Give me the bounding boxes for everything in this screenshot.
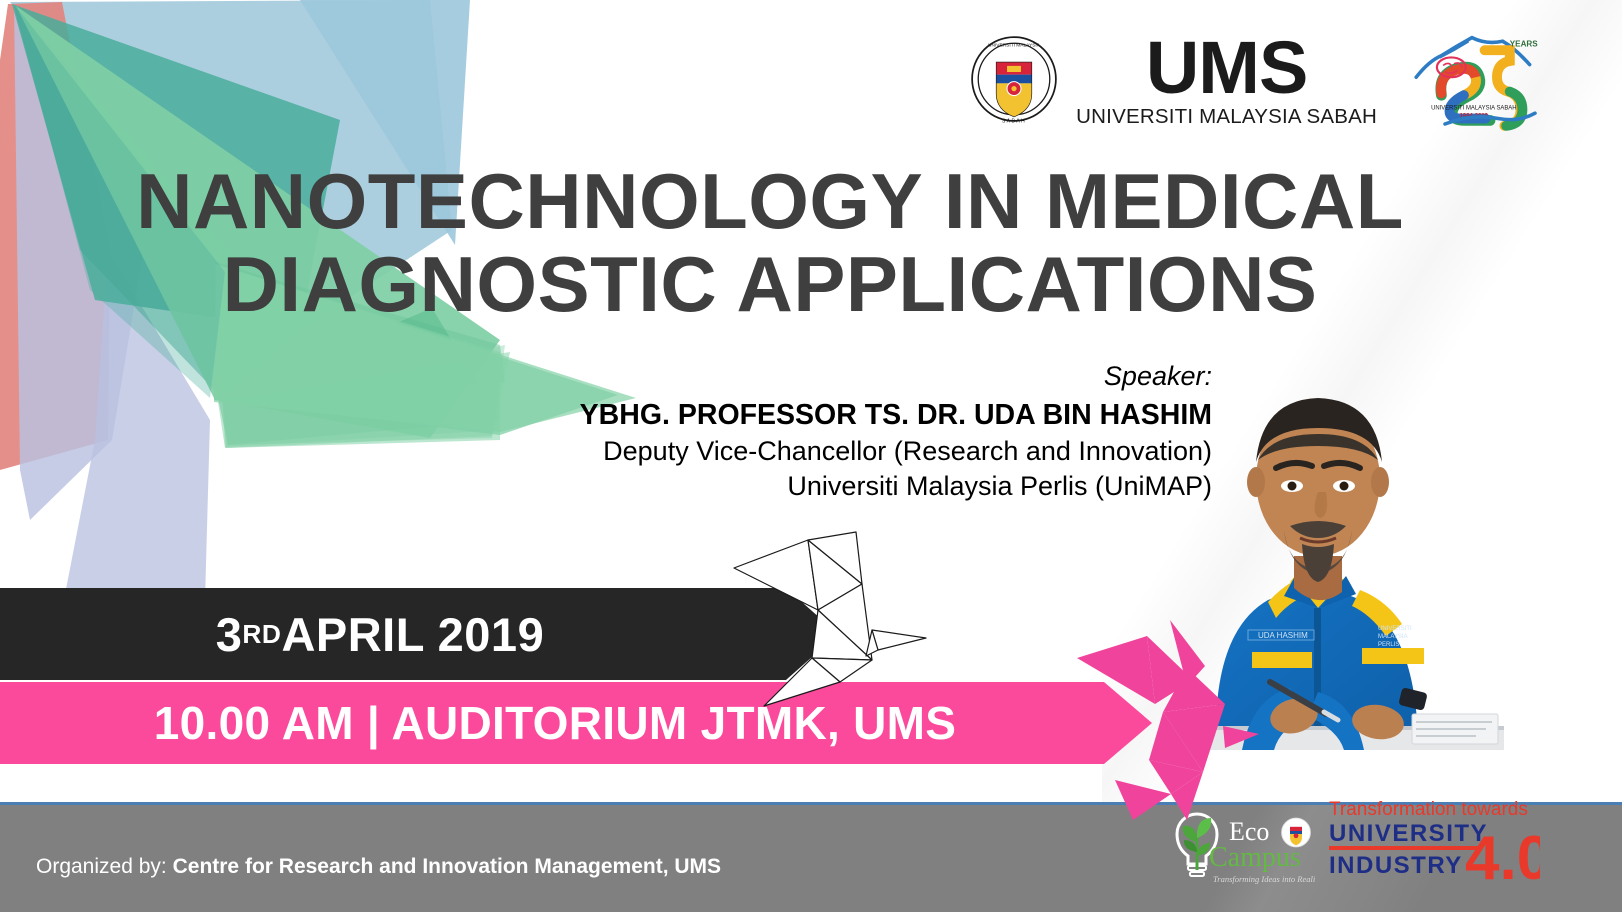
svg-text:PERLIS: PERLIS [1378,642,1399,648]
industry-line-top: Transformation towards [1329,799,1528,820]
ums-acronym: UMS [1146,31,1307,105]
deco-shape-mint-6 [222,345,505,445]
eco-campus-tagline: Transforming Ideas into Reality [1213,874,1315,884]
header-logo-row: UNIVERSITI MALAYSIA SABAH UMS UNIVERSITI… [970,24,1544,134]
ums-fullname: UNIVERSITI MALAYSIA SABAH [1076,107,1377,128]
deco-shape-mint-3 [218,308,500,445]
svg-text:SABAH: SABAH [1002,119,1026,125]
ums-crest-small-icon [1282,818,1311,847]
organizer-line: Organized by: Centre for Research and In… [36,855,721,879]
title-line-2: DIAGNOSTIC APPLICATIONS [0,243,1540,326]
speaker-role: Deputy Vice-Chancellor (Research and Inn… [580,434,1212,469]
poster-canvas: UNIVERSITI MALAYSIA SABAH UMS UNIVERSITI… [0,0,1622,912]
anniversary-years-label: YEARS [1510,40,1538,49]
svg-text:UNIVERSITI MALAYSIA: UNIVERSITI MALAYSIA [988,43,1041,49]
page-title: NANOTECHNOLOGY IN MEDICAL DIAGNOSTIC APP… [0,160,1540,327]
anniversary-25-logo: YEARS UNIVERSITI MALAYSIA SABAH 1994-201… [1409,24,1544,134]
campus-word: Campus [1209,842,1301,873]
speaker-kicker: Speaker: [580,360,1212,394]
organizer-name: Centre for Research and Innovation Manag… [173,855,721,878]
industry-line-bottom: INDUSTRY [1329,852,1463,879]
time-banner [0,682,1180,764]
speaker-name: YBHG. PROFESSOR TS. DR. UDA BIN HASHIM [580,396,1212,434]
organized-by-label: Organized by: [36,855,167,878]
svg-text:MALAYSIA: MALAYSIA [1378,634,1408,640]
svg-text:UNIVERSITI: UNIVERSITI [1378,626,1412,632]
speaker-organization: Universiti Malaysia Perlis (UniMAP) [580,469,1212,504]
origami-crane-pink-icon [1075,608,1260,823]
ums-wordmark: UMS UNIVERSITI MALAYSIA SABAH [1076,31,1377,128]
origami-crane-outline-icon [690,510,930,710]
svg-text:UDA HASHIM: UDA HASHIM [1258,631,1308,640]
deco-shape-mint-4 [218,352,510,448]
anniversary-org: UNIVERSITI MALAYSIA SABAH [1431,106,1516,112]
title-line-1: NANOTECHNOLOGY IN MEDICAL [0,160,1540,243]
industry-version: 4.0 [1465,824,1540,885]
university-industry-40-logo: Transformation towards UNIVERSITY INDUST… [1325,793,1540,885]
ums-crest-icon: UNIVERSITI MALAYSIA SABAH [970,31,1058,127]
speaker-info: Speaker: YBHG. PROFESSOR TS. DR. UDA BIN… [580,360,1212,504]
